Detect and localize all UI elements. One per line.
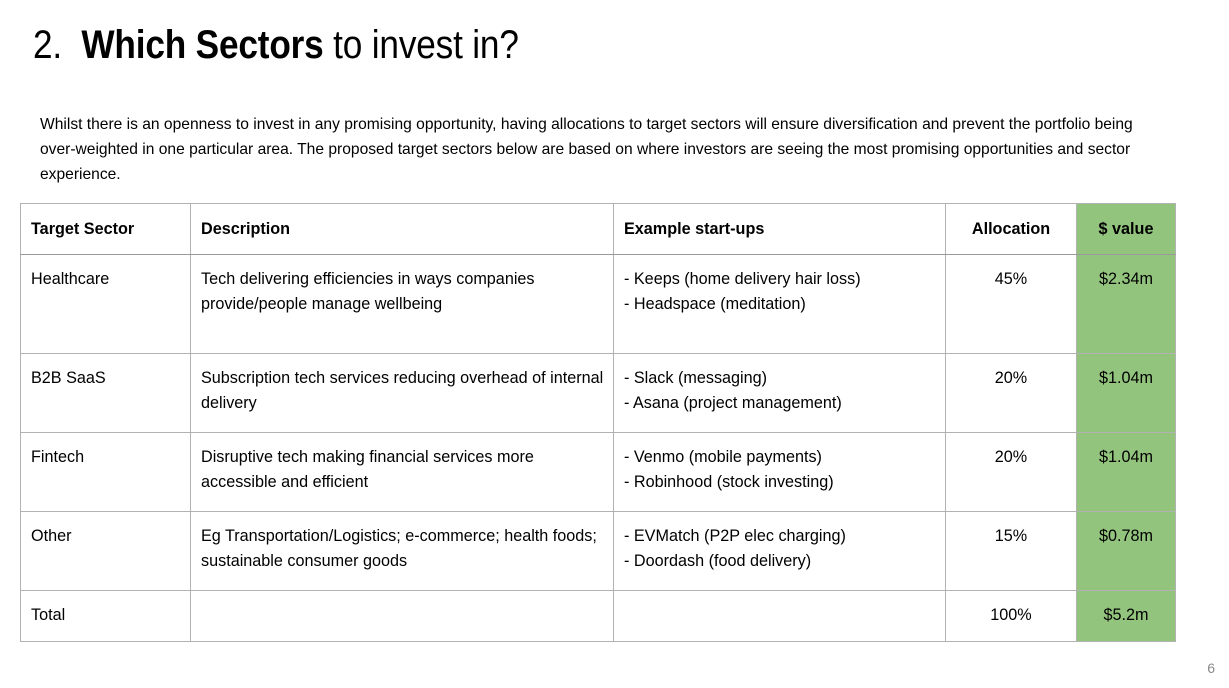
cell-dollar-value: $2.34m [1077, 255, 1176, 354]
cell-description: Eg Transportation/Logistics; e-commerce;… [191, 512, 614, 591]
slide-number-label: 2. [33, 23, 62, 67]
table-row: B2B SaaS Subscription tech services redu… [21, 354, 1176, 433]
cell-examples: - Slack (messaging) - Asana (project man… [614, 354, 946, 433]
intro-paragraph: Whilst there is an openness to invest in… [40, 112, 1150, 187]
cell-sector-text: Other [21, 512, 190, 559]
page-title-emphasis: Which Sectors [81, 23, 323, 67]
column-header-target-sector: Target Sector [21, 204, 191, 255]
column-header-allocation: Allocation [946, 204, 1077, 255]
cell-examples-text: - Venmo (mobile payments) - Robinhood (s… [614, 433, 945, 505]
table-row: Fintech Disruptive tech making financial… [21, 433, 1176, 512]
column-header-allocation-label: Allocation [946, 204, 1076, 254]
cell-description: Tech delivering efficiencies in ways com… [191, 255, 614, 354]
table-header-row: Target Sector Description Example start-… [21, 204, 1176, 255]
cell-allocation: 20% [946, 433, 1077, 512]
cell-dollar-value-text: $2.34m [1077, 255, 1175, 302]
cell-examples: - Keeps (home delivery hair loss) - Head… [614, 255, 946, 354]
column-header-description: Description [191, 204, 614, 255]
cell-allocation: 15% [946, 512, 1077, 591]
cell-description-total [191, 591, 614, 642]
cell-description: Subscription tech services reducing over… [191, 354, 614, 433]
cell-sector-text: Healthcare [21, 255, 190, 302]
cell-allocation-text: 20% [946, 354, 1076, 401]
cell-allocation: 45% [946, 255, 1077, 354]
table-row: Healthcare Tech delivering efficiencies … [21, 255, 1176, 354]
cell-sector: Other [21, 512, 191, 591]
cell-dollar-value-text: $1.04m [1077, 433, 1175, 480]
cell-examples-text: - Keeps (home delivery hair loss) - Head… [614, 255, 945, 327]
cell-dollar-value-text: $0.78m [1077, 512, 1175, 559]
cell-description-text: Eg Transportation/Logistics; e-commerce;… [191, 512, 613, 584]
cell-dollar-value: $0.78m [1077, 512, 1176, 591]
column-header-example-startups: Example start-ups [614, 204, 946, 255]
cell-description: Disruptive tech making financial service… [191, 433, 614, 512]
cell-examples-total-text [614, 591, 945, 613]
cell-dollar-value-total: $5.2m [1077, 591, 1176, 642]
cell-sector: B2B SaaS [21, 354, 191, 433]
cell-sector-total: Total [21, 591, 191, 642]
column-header-dollar-value-label: $ value [1077, 204, 1175, 254]
cell-examples-text: - EVMatch (P2P elec charging) - Doordash… [614, 512, 945, 584]
cell-examples: - EVMatch (P2P elec charging) - Doordash… [614, 512, 946, 591]
page-title: 2.Which Sectors to invest in? [33, 18, 519, 72]
cell-examples-text: - Slack (messaging) - Asana (project man… [614, 354, 945, 426]
cell-description-text: Disruptive tech making financial service… [191, 433, 613, 505]
cell-sector: Fintech [21, 433, 191, 512]
cell-sector-text: B2B SaaS [21, 354, 190, 401]
cell-description-text: Subscription tech services reducing over… [191, 354, 613, 426]
cell-description-text: Tech delivering efficiencies in ways com… [191, 255, 613, 327]
table-row-total: Total 100% $5.2m [21, 591, 1176, 642]
cell-examples: - Venmo (mobile payments) - Robinhood (s… [614, 433, 946, 512]
cell-sector: Healthcare [21, 255, 191, 354]
cell-examples-total [614, 591, 946, 642]
column-header-example-startups-label: Example start-ups [614, 204, 945, 254]
column-header-dollar-value: $ value [1077, 204, 1176, 255]
cell-dollar-value-text: $1.04m [1077, 354, 1175, 401]
cell-allocation-total: 100% [946, 591, 1077, 642]
cell-allocation: 20% [946, 354, 1077, 433]
cell-allocation-text: 15% [946, 512, 1076, 559]
cell-allocation-text: 20% [946, 433, 1076, 480]
cell-dollar-value: $1.04m [1077, 354, 1176, 433]
target-sectors-table: Target Sector Description Example start-… [20, 203, 1176, 642]
page-number: 6 [1207, 660, 1215, 676]
column-header-target-sector-label: Target Sector [21, 204, 190, 254]
column-header-description-label: Description [191, 204, 613, 254]
table-row: Other Eg Transportation/Logistics; e-com… [21, 512, 1176, 591]
cell-dollar-value-total-text: $5.2m [1077, 591, 1175, 638]
cell-sector-total-text: Total [21, 591, 190, 638]
cell-description-total-text [191, 591, 613, 613]
cell-sector-text: Fintech [21, 433, 190, 480]
page-title-rest: to invest in? [324, 23, 519, 67]
cell-dollar-value: $1.04m [1077, 433, 1176, 512]
cell-allocation-text: 45% [946, 255, 1076, 302]
cell-allocation-total-text: 100% [946, 591, 1076, 638]
